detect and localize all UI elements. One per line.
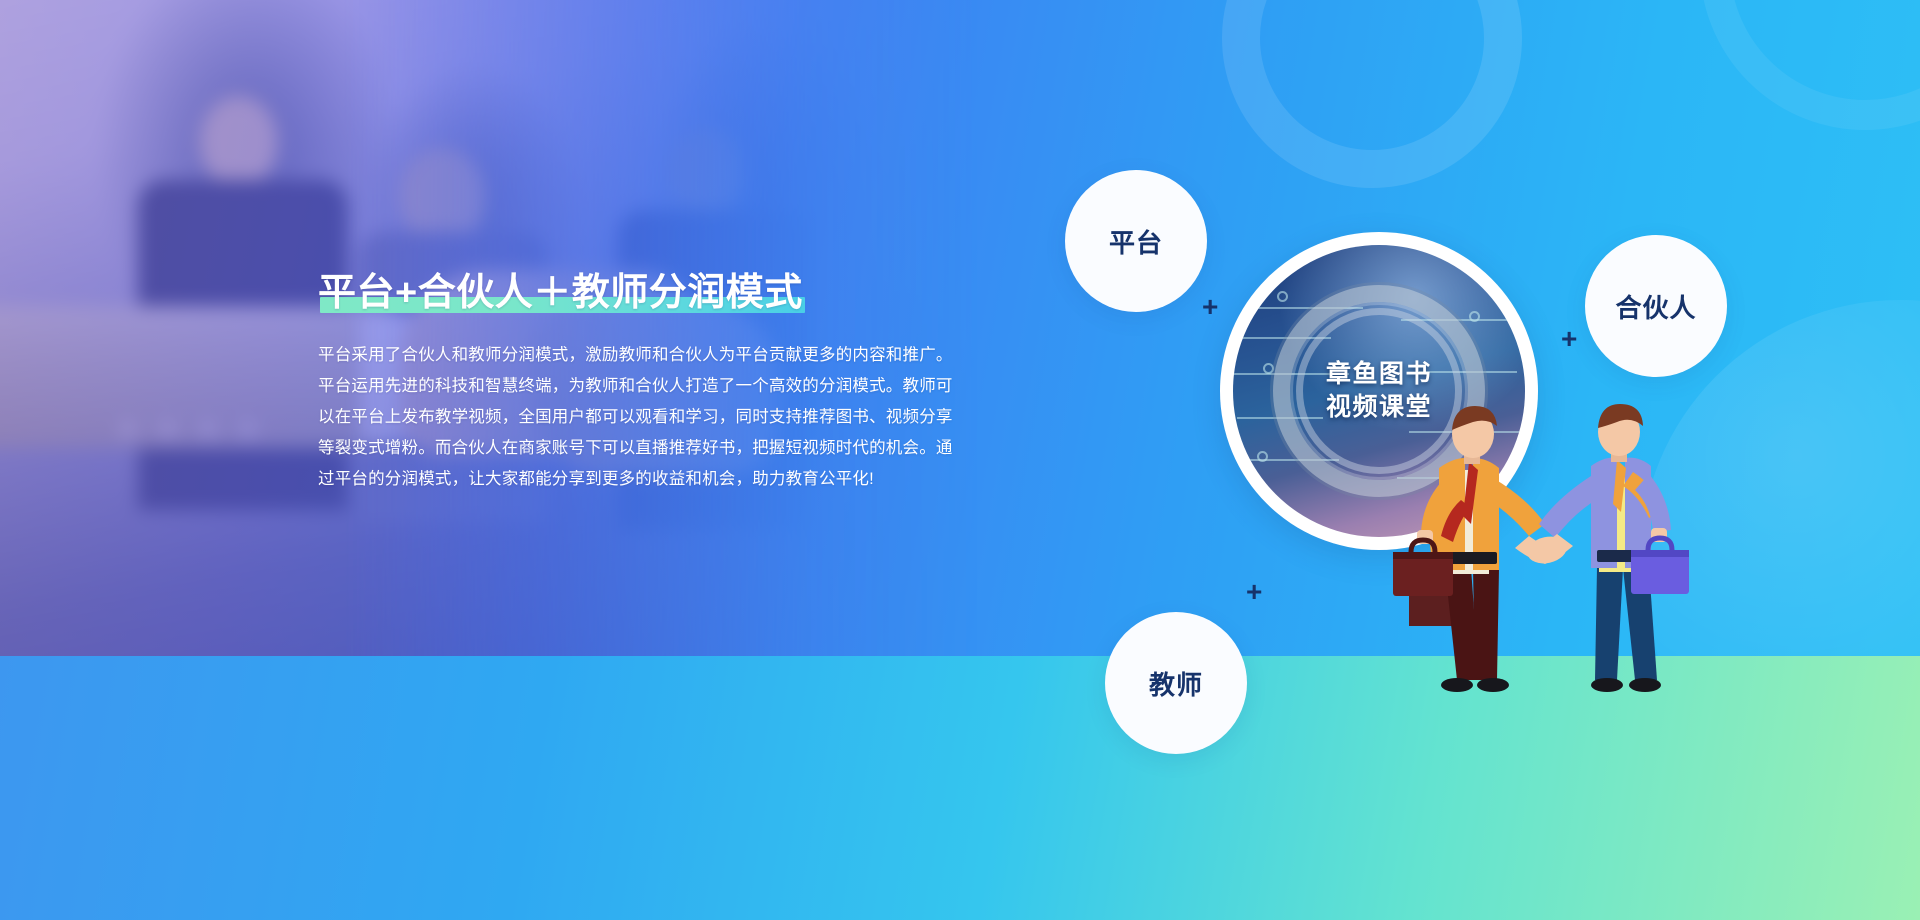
banner-description: 平台采用了合伙人和教师分润模式，激励教师和合伙人为平台贡献更多的内容和推广。平台… xyxy=(318,340,968,495)
plus-connector-icon: + xyxy=(1561,325,1577,353)
bubble-teacher[interactable]: 教师 xyxy=(1105,612,1247,754)
bubble-platform-label: 平台 xyxy=(1109,223,1163,260)
banner-title: 平台+合伙人＋教师分润模式 xyxy=(318,272,803,316)
plus-connector-icon: + xyxy=(1202,293,1218,321)
banner-title-wrap: 平台+合伙人＋教师分润模式 xyxy=(318,272,803,316)
plus-connector-icon: + xyxy=(1246,578,1262,606)
bubble-partner[interactable]: 合伙人 xyxy=(1585,235,1727,377)
partnership-diagram: + + + xyxy=(1020,0,1920,920)
banner-copy: 平台+合伙人＋教师分润模式 平台采用了合伙人和教师分润模式，激励教师和合伙人为平… xyxy=(318,272,978,495)
handshake-businessmen-illustration xyxy=(1365,400,1695,700)
media-title-line1: 章鱼图书 xyxy=(1233,358,1525,391)
promo-banner-page: 平台+合伙人＋教师分润模式 平台采用了合伙人和教师分润模式，激励教师和合伙人为平… xyxy=(0,0,1920,920)
bubble-teacher-label: 教师 xyxy=(1149,665,1203,702)
bubble-partner-label: 合伙人 xyxy=(1615,288,1696,325)
bubble-platform[interactable]: 平台 xyxy=(1065,170,1207,312)
